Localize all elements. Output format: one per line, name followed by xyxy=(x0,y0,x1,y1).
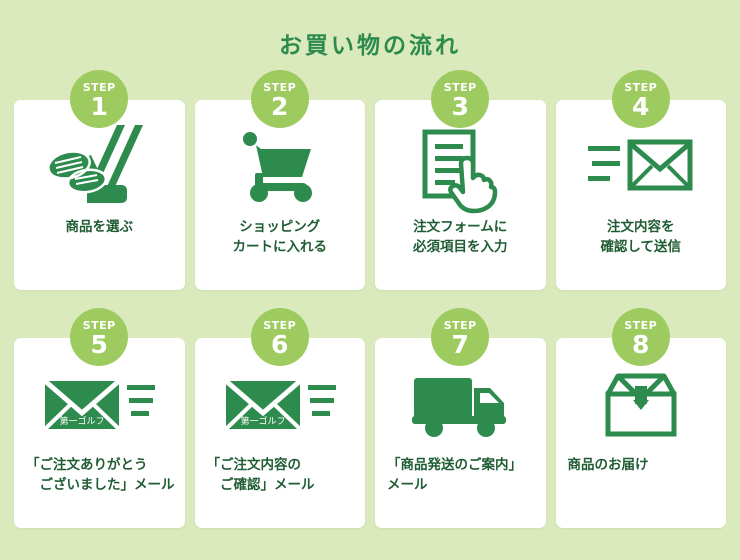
step-badge-4: STEP 4 xyxy=(612,70,670,128)
envelope-filled: 第一ゴルフ xyxy=(45,381,119,429)
step-badge-number: 1 xyxy=(91,94,108,119)
step-badge-word: STEP xyxy=(624,320,657,331)
step-badge-8: STEP 8 xyxy=(612,308,670,366)
order-form-hand-icon xyxy=(421,129,499,205)
step-caption-8: 商品のお届け xyxy=(556,456,727,476)
speed-lines xyxy=(127,385,155,416)
step-badge-word: STEP xyxy=(263,320,296,331)
step-badge-7: STEP 7 xyxy=(431,308,489,366)
steps-row-bottom: STEP 5 第一ゴルフ xyxy=(14,338,726,528)
step-badge-5: STEP 5 xyxy=(70,308,128,366)
caption-line: ショッピング xyxy=(201,218,360,238)
step-card-7[interactable]: STEP 7 xyxy=(375,338,546,528)
step-badge-number: 2 xyxy=(271,94,288,119)
caption-line: カートに入れる xyxy=(201,238,360,258)
caption-line: メール xyxy=(387,476,540,496)
step-caption-4: 注文内容を 確認して送信 xyxy=(556,218,727,257)
steps-row-top: STEP 1 xyxy=(14,100,726,290)
step-badge-number: 4 xyxy=(632,94,649,119)
step-badge-word: STEP xyxy=(624,82,657,93)
step-badge-word: STEP xyxy=(263,82,296,93)
caption-line: 「商品発送のご案内」 xyxy=(387,456,540,476)
caption-line: 商品を選ぶ xyxy=(20,218,179,238)
step-card-1[interactable]: STEP 1 xyxy=(14,100,185,290)
step-badge-number: 8 xyxy=(632,332,649,357)
caption-line: 「ご注文内容の xyxy=(207,456,360,476)
step-caption-6: 「ご注文内容の ご確認」メール xyxy=(195,456,366,495)
step-badge-1: STEP 1 xyxy=(70,70,128,128)
delivery-truck-icon xyxy=(412,372,508,438)
received-mail-icon: 第一ゴルフ xyxy=(43,373,155,437)
envelope-brand-label: 第一ゴルフ xyxy=(240,415,285,427)
send-mail-icon xyxy=(588,136,694,198)
step-badge-word: STEP xyxy=(83,320,116,331)
caption-line: 必須項目を入力 xyxy=(381,238,540,258)
envelope-filled: 第一ゴルフ xyxy=(226,381,300,429)
step-badge-2: STEP 2 xyxy=(251,70,309,128)
step-badge-number: 6 xyxy=(271,332,288,357)
step-badge-number: 7 xyxy=(452,332,469,357)
step-badge-6: STEP 6 xyxy=(251,308,309,366)
caption-line: 注文内容を xyxy=(562,218,721,238)
step-badge-3: STEP 3 xyxy=(431,70,489,128)
steps-grid: STEP 1 xyxy=(14,100,726,528)
package-box-icon xyxy=(604,372,678,438)
caption-line: 「ご注文ありがとう xyxy=(26,456,179,476)
caption-line: ご確認」メール xyxy=(207,476,360,496)
step-badge-number: 3 xyxy=(452,94,469,119)
step-caption-2: ショッピング カートに入れる xyxy=(195,218,366,257)
caption-line: 商品のお届け xyxy=(568,456,721,476)
shopping-cart-icon xyxy=(239,131,321,203)
envelope-brand-label: 第一ゴルフ xyxy=(60,415,105,427)
step-card-4[interactable]: STEP 4 xyxy=(556,100,727,290)
step-card-3[interactable]: STEP 3 xyxy=(375,100,546,290)
page-title: お買い物の流れ xyxy=(0,0,740,64)
caption-line: 確認して送信 xyxy=(562,238,721,258)
step-badge-number: 5 xyxy=(91,332,108,357)
step-badge-word: STEP xyxy=(444,320,477,331)
step-badge-word: STEP xyxy=(83,82,116,93)
step-card-8[interactable]: STEP 8 商品のお届け xyxy=(556,338,727,528)
step-caption-1: 商品を選ぶ xyxy=(14,218,185,238)
step-caption-3: 注文フォームに 必須項目を入力 xyxy=(375,218,546,257)
step-caption-7: 「商品発送のご案内」 メール xyxy=(375,456,546,495)
step-card-6[interactable]: STEP 6 第一ゴルフ xyxy=(195,338,366,528)
step-card-5[interactable]: STEP 5 第一ゴルフ xyxy=(14,338,185,528)
speed-lines xyxy=(308,385,336,416)
golf-clubs-icon xyxy=(47,123,151,211)
received-mail-icon: 第一ゴルフ xyxy=(224,373,336,437)
caption-line: ございました」メール xyxy=(26,476,179,496)
envelope-outline xyxy=(630,142,690,188)
step-card-2[interactable]: STEP 2 xyxy=(195,100,366,290)
speed-lines xyxy=(588,146,620,181)
caption-line: 注文フォームに xyxy=(381,218,540,238)
step-badge-word: STEP xyxy=(444,82,477,93)
step-caption-5: 「ご注文ありがとう ございました」メール xyxy=(14,456,185,495)
